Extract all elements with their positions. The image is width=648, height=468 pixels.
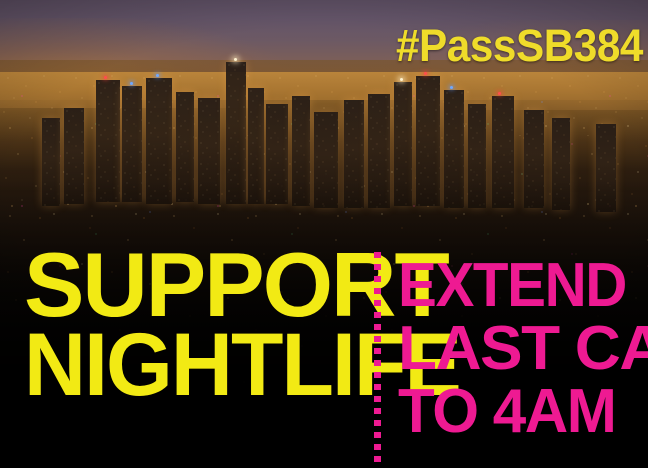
- poster-campaign-graphic: #PassSB384 SUPPORT NIGHTLIFE EXTEND LAST…: [0, 0, 648, 468]
- campaign-hashtag: #PassSB384: [396, 22, 643, 70]
- headline-right-line1: EXTEND: [398, 254, 624, 317]
- poster-text-layer: #PassSB384 SUPPORT NIGHTLIFE EXTEND LAST…: [0, 0, 648, 468]
- dotted-divider: [374, 252, 381, 468]
- headline-right-block: EXTEND LAST CALL TO 4AM: [398, 254, 638, 443]
- headline-left-block: SUPPORT NIGHTLIFE: [24, 247, 364, 403]
- headline-left-line2: NIGHTLIFE: [24, 325, 352, 403]
- headline-right-line3: TO 4AM: [398, 380, 631, 443]
- headline-right-line2: LAST CALL: [398, 317, 645, 380]
